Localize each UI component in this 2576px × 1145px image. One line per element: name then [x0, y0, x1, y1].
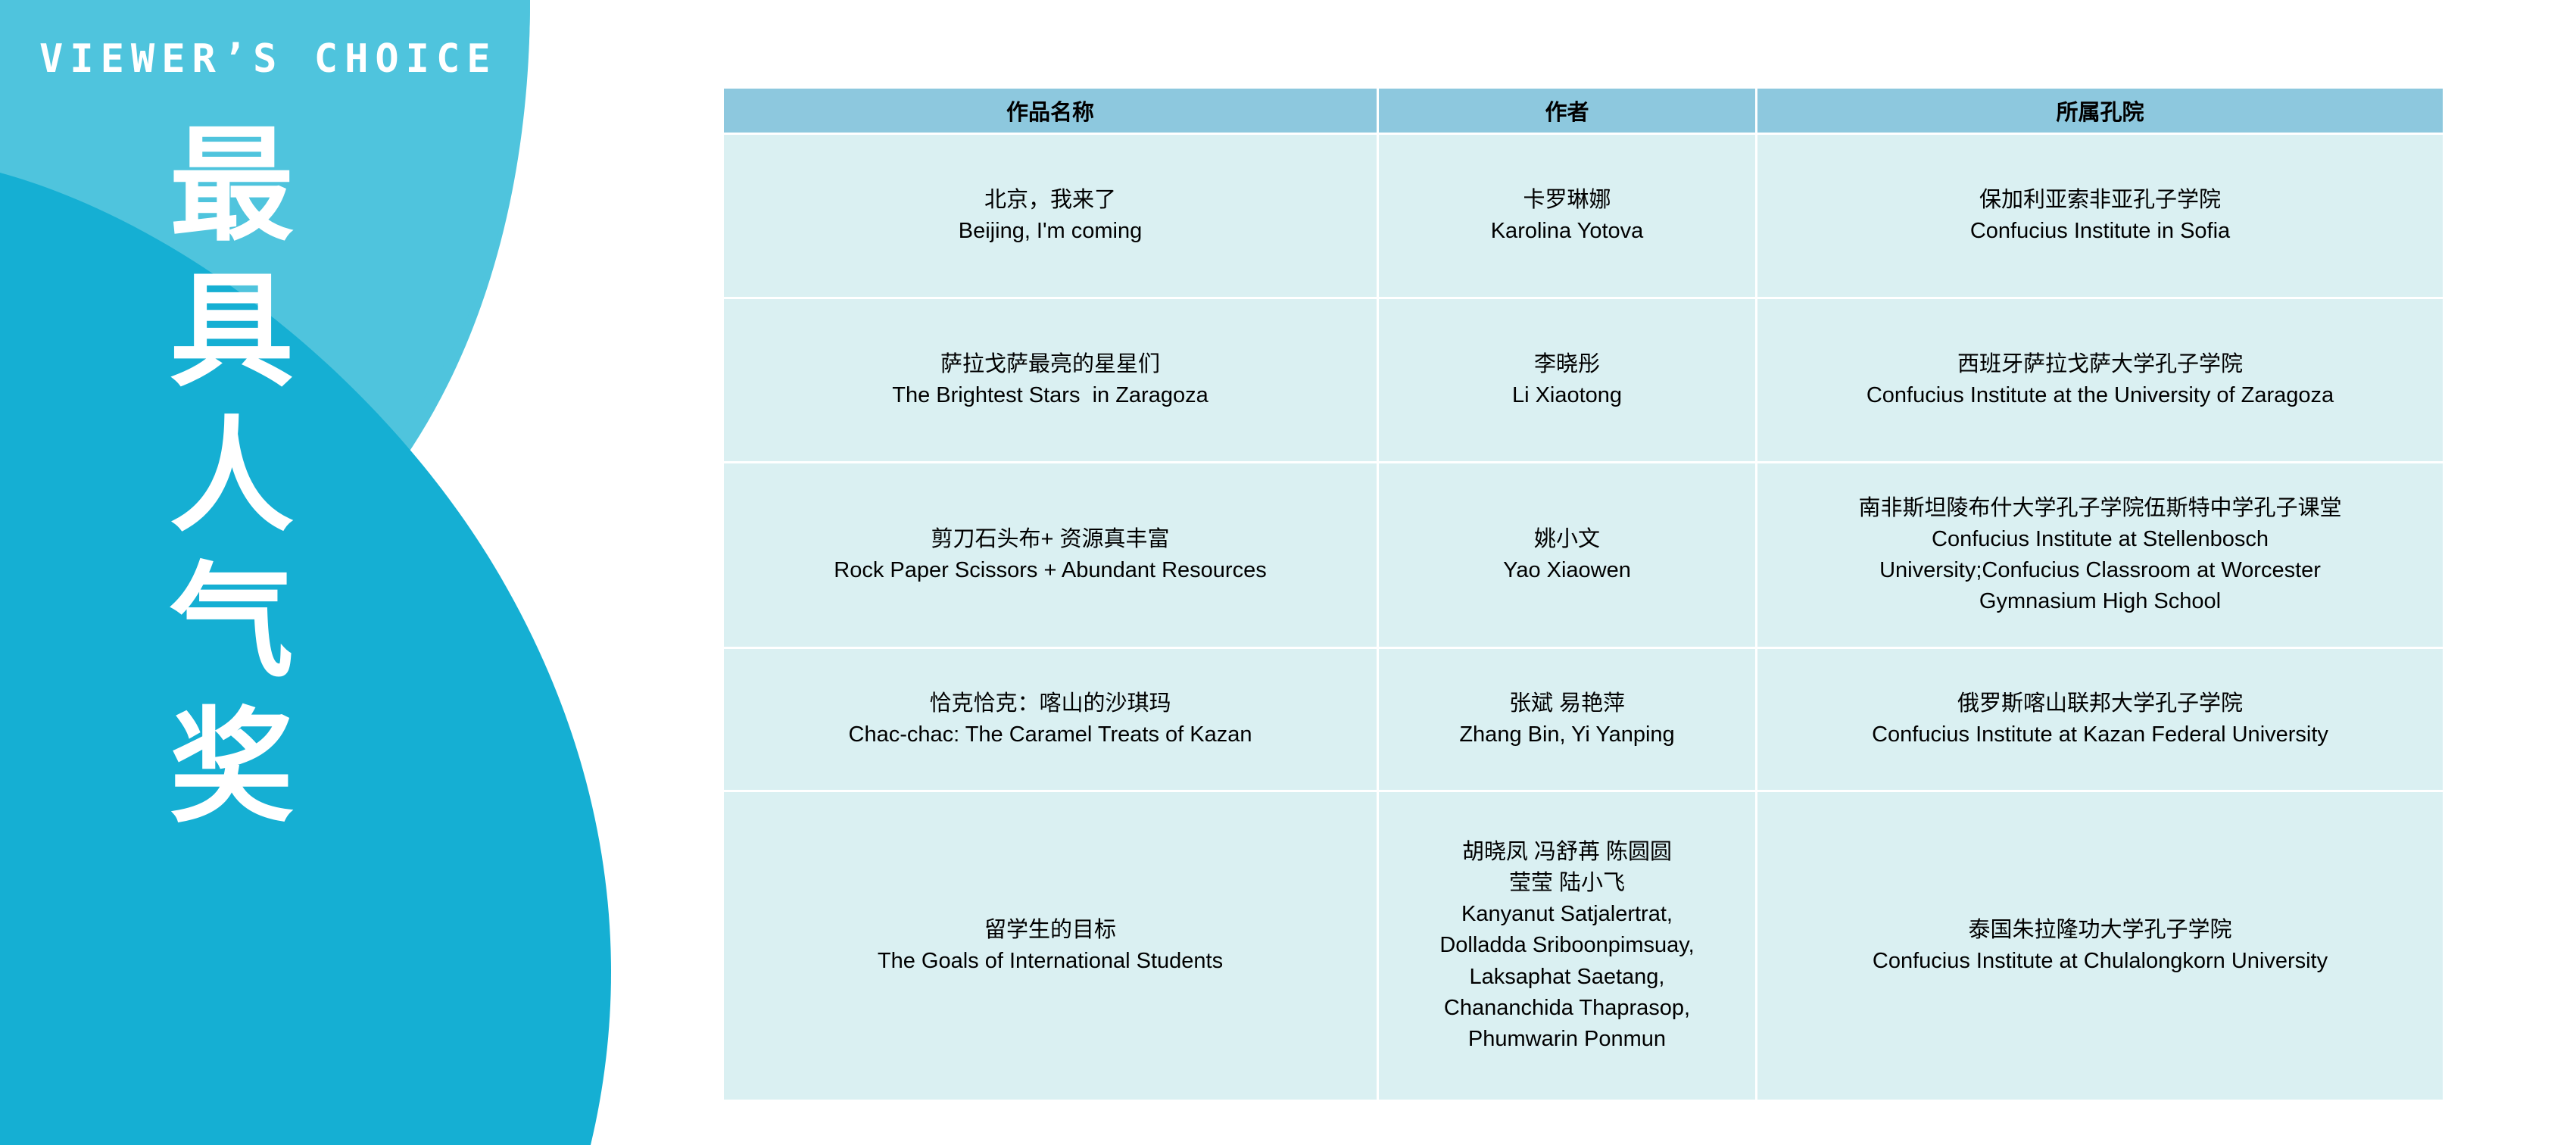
award-title-char-4: 气 — [148, 550, 315, 695]
author-zh: 卡罗琳娜 — [1386, 185, 1748, 216]
institute-en: Confucius Institute in Sofia — [1765, 216, 2435, 247]
title-zh: 恰克恰克：喀山的沙琪玛 — [731, 688, 1369, 719]
title-en: Beijing, I'm coming — [731, 216, 1369, 247]
author-en-line-5: Phumwarin Ponmun — [1386, 1024, 1748, 1055]
title-en: Chac-chac: The Caramel Treats of Kazan — [731, 719, 1369, 750]
author-en: Karolina Yotova — [1386, 216, 1748, 247]
award-title-char-5: 奖 — [148, 695, 315, 841]
title-zh: 萨拉戈萨最亮的星星们 — [731, 349, 1369, 380]
table-row: 恰克恰克：喀山的沙琪玛 Chac-chac: The Caramel Treat… — [724, 649, 2443, 790]
table-row: 剪刀石头布+ 资源真丰富 Rock Paper Scissors + Abund… — [724, 463, 2443, 647]
title-zh: 北京，我来了 — [731, 185, 1369, 216]
decorative-banner-panel — [0, 0, 727, 1145]
author-zh-line-1: 胡晓凤 冯舒苒 陈圆圆 — [1386, 837, 1748, 868]
title-zh: 留学生的目标 — [731, 915, 1369, 946]
table-header-row: 作品名称 作者 所属孔院 — [724, 89, 2443, 133]
institute-zh: 俄罗斯喀山联邦大学孔子学院 — [1765, 688, 2435, 719]
results-table: 作品名称 作者 所属孔院 北京，我来了 Beijing, I'm coming … — [722, 86, 2445, 1102]
cell-author: 卡罗琳娜 Karolina Yotova — [1379, 135, 1755, 297]
title-en: The Brightest Stars in Zaragoza — [731, 380, 1369, 411]
award-title-char-3: 人 — [148, 404, 315, 550]
institute-en: Confucius Institute at Chulalongkorn Uni… — [1765, 946, 2435, 977]
institute-zh: 保加利亚索非亚孔子学院 — [1765, 185, 2435, 216]
column-header-institute: 所属孔院 — [1757, 89, 2443, 133]
title-zh: 剪刀石头布+ 资源真丰富 — [731, 524, 1369, 555]
institute-zh: 泰国朱拉隆功大学孔子学院 — [1765, 915, 2435, 946]
cell-institute: 俄罗斯喀山联邦大学孔子学院 Confucius Institute at Kaz… — [1757, 649, 2443, 790]
author-zh: 李晓彤 — [1386, 349, 1748, 380]
table-row: 萨拉戈萨最亮的星星们 The Brightest Stars in Zarago… — [724, 299, 2443, 461]
institute-en-line-3: Gymnasium High School — [1765, 586, 2435, 617]
author-en-line-4: Chananchida Thaprasop, — [1386, 993, 1748, 1024]
institute-en: Confucius Institute at Kazan Federal Uni… — [1765, 719, 2435, 750]
banner-shapes — [0, 0, 727, 1145]
column-header-title: 作品名称 — [724, 89, 1377, 133]
author-en: Yao Xiaowen — [1386, 555, 1748, 586]
cell-title: 留学生的目标 The Goals of International Studen… — [724, 792, 1377, 1100]
table-row: 留学生的目标 The Goals of International Studen… — [724, 792, 2443, 1100]
title-en: The Goals of International Students — [731, 946, 1369, 977]
cell-author: 胡晓凤 冯舒苒 陈圆圆 莹莹 陆小飞 Kanyanut Satjalertrat… — [1379, 792, 1755, 1100]
institute-en: Confucius Institute at the University of… — [1765, 380, 2435, 411]
institute-en-line-1: Confucius Institute at Stellenbosch — [1765, 524, 2435, 555]
author-en: Li Xiaotong — [1386, 380, 1748, 411]
author-en-line-3: Laksaphat Saetang, — [1386, 962, 1748, 993]
cell-author: 李晓彤 Li Xiaotong — [1379, 299, 1755, 461]
cell-institute: 泰国朱拉隆功大学孔子学院 Confucius Institute at Chul… — [1757, 792, 2443, 1100]
cell-title: 恰克恰克：喀山的沙琪玛 Chac-chac: The Caramel Treat… — [724, 649, 1377, 790]
author-en-line-2: Dolladda Sriboonpimsuay, — [1386, 930, 1748, 961]
institute-zh: 南非斯坦陵布什大学孔子学院伍斯特中学孔子课堂 — [1765, 493, 2435, 524]
institute-en-line-2: University;Confucius Classroom at Worces… — [1765, 555, 2435, 586]
award-title-char-2: 具 — [148, 259, 315, 404]
title-en: Rock Paper Scissors + Abundant Resources — [731, 555, 1369, 586]
author-zh-line-2: 莹莹 陆小飞 — [1386, 868, 1748, 899]
cell-institute: 南非斯坦陵布什大学孔子学院伍斯特中学孔子课堂 Confucius Institu… — [1757, 463, 2443, 647]
cell-title: 剪刀石头布+ 资源真丰富 Rock Paper Scissors + Abund… — [724, 463, 1377, 647]
author-en: Zhang Bin, Yi Yanping — [1386, 719, 1748, 750]
author-zh: 姚小文 — [1386, 524, 1748, 555]
cell-institute: 保加利亚索非亚孔子学院 Confucius Institute in Sofia — [1757, 135, 2443, 297]
cell-title: 北京，我来了 Beijing, I'm coming — [724, 135, 1377, 297]
award-title-vertical: 最 具 人 气 奖 — [148, 114, 315, 840]
author-en-line-1: Kanyanut Satjalertrat, — [1386, 899, 1748, 930]
author-zh: 张斌 易艳萍 — [1386, 688, 1748, 719]
column-header-author: 作者 — [1379, 89, 1755, 133]
cell-author: 张斌 易艳萍 Zhang Bin, Yi Yanping — [1379, 649, 1755, 790]
award-title-char-1: 最 — [148, 114, 315, 259]
cell-institute: 西班牙萨拉戈萨大学孔子学院 Confucius Institute at the… — [1757, 299, 2443, 461]
institute-zh: 西班牙萨拉戈萨大学孔子学院 — [1765, 349, 2435, 380]
viewers-choice-label: VIEWER’S CHOICE — [39, 36, 497, 82]
table-row: 北京，我来了 Beijing, I'm coming 卡罗琳娜 Karolina… — [724, 135, 2443, 297]
cell-author: 姚小文 Yao Xiaowen — [1379, 463, 1755, 647]
cell-title: 萨拉戈萨最亮的星星们 The Brightest Stars in Zarago… — [724, 299, 1377, 461]
